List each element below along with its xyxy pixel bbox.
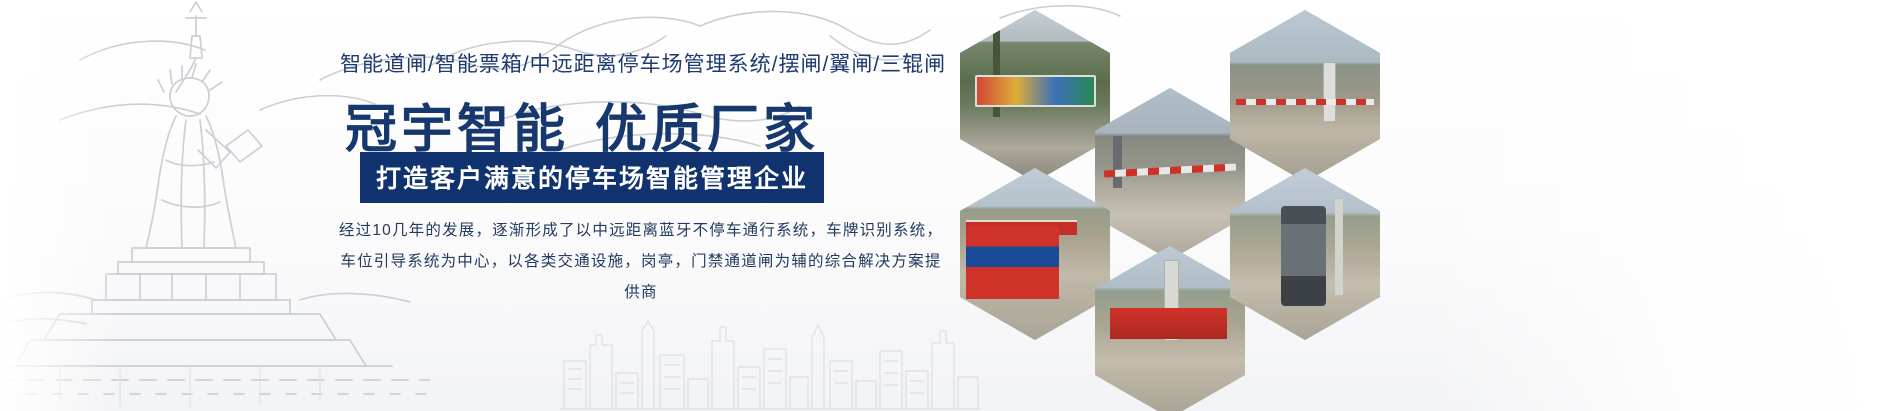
photo-barrier-gate-roadside[interactable] [1095,88,1245,260]
promo-banner: 智能道闸/智能票箱/中远距离停车场管理系统/摆闸/翼闸/三辊闸 冠宇智能优质厂家… [0,0,1900,411]
photo-parking-kiosk[interactable] [1230,168,1380,340]
banner-paragraph: 经过10几年的发展，逐渐形成了以中远距离蓝牙不停车通行系统，车牌识别系统，车位引… [335,215,947,308]
banner-ribbon-slogan: 打造客户满意的停车场智能管理企业 [360,152,824,203]
photo-barrier-gate-trees[interactable] [960,10,1110,182]
banner-headline: 冠宇智能优质厂家 [345,87,945,162]
photo-red-blue-gate-building[interactable] [960,168,1110,340]
photo-red-banner-entrance[interactable] [1095,246,1245,411]
headline-part-2: 优质厂家 [595,101,819,159]
headline-part-1: 冠宇智能 [345,101,569,159]
hexagon-photo-collage [930,0,1450,411]
banner-tagline: 智能道闸/智能票箱/中远距离停车场管理系统/摆闸/翼闸/三辊闸 [340,48,940,78]
banner-text-block: 智能道闸/智能票箱/中远距离停车场管理系统/摆闸/翼闸/三辊闸 冠宇智能优质厂家… [340,0,940,411]
photo-barrier-gate-lot[interactable] [1230,10,1380,182]
right-white-fade [1430,0,1900,411]
